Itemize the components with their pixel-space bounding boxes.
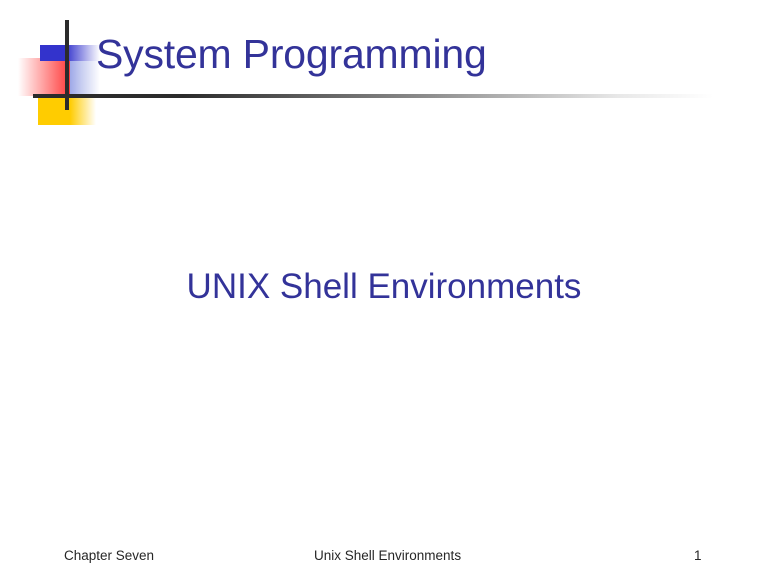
footer-chapter-label: Chapter Seven [64, 548, 154, 563]
slide-title: System Programming [96, 26, 746, 82]
slide-subtitle-text: UNIX Shell Environments [187, 265, 582, 309]
decoration-blue-square-icon [40, 45, 100, 61]
decoration-red-square-icon [18, 58, 72, 96]
slide-body: UNIX Shell Environments [0, 265, 768, 309]
decoration-horizontal-rule [33, 94, 713, 98]
slide-canvas: System Programming UNIX Shell Environmen… [0, 0, 768, 576]
decoration-yellow-square-icon [38, 98, 96, 125]
slide-footer: Chapter Seven Unix Shell Environments 1 [0, 548, 768, 570]
footer-page-number: 1 [694, 548, 702, 563]
footer-topic-label: Unix Shell Environments [314, 548, 461, 563]
decoration-vertical-bar [65, 20, 69, 110]
